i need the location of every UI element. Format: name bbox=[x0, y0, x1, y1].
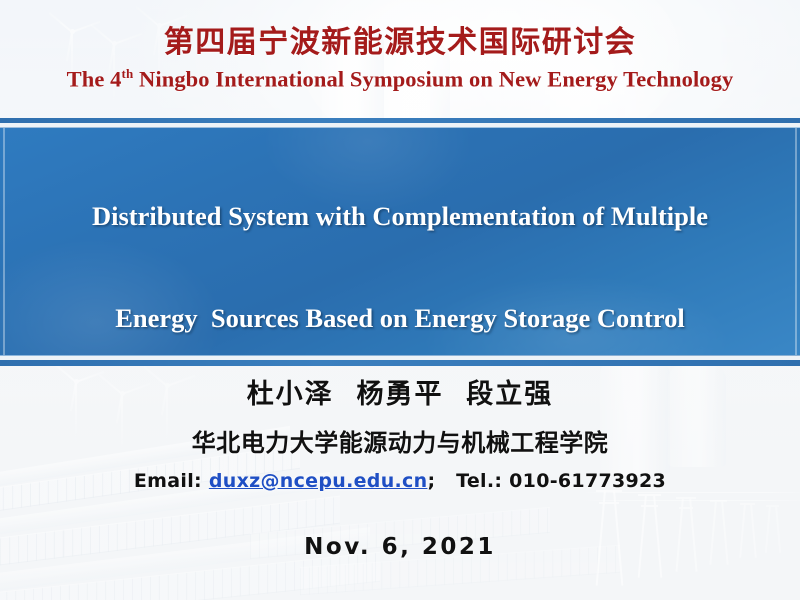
telephone-number: Tel.: 010-61773923 bbox=[456, 470, 666, 492]
panel-inner-border-left bbox=[3, 128, 5, 356]
conference-title-english: The 4th Ningbo International Symposium o… bbox=[67, 66, 734, 93]
author-names: 杜小泽 杨勇平 段立强 bbox=[247, 372, 554, 411]
contact-line: Email: duxz@ncepu.edu.cn; Tel.: 010-6177… bbox=[134, 470, 666, 492]
conference-header: 第四届宁波新能源技术国际研讨会 The 4th Ningbo Internati… bbox=[0, 0, 800, 118]
presentation-title-english-line1: Distributed System with Complementation … bbox=[92, 200, 708, 234]
affiliation: 华北电力大学能源动力与机械工程学院 bbox=[192, 423, 609, 458]
presentation-title-english: Distributed System with Complementation … bbox=[92, 132, 708, 356]
ordinal-superscript: th bbox=[122, 66, 134, 81]
title-panel: 基于储能调控的多能互补分布式能源系统 Distributed System wi… bbox=[0, 127, 800, 356]
email-link[interactable]: duxz@ncepu.edu.cn bbox=[209, 470, 428, 492]
conference-title-english-rest: Ningbo International Symposium on New En… bbox=[133, 67, 733, 92]
presentation-date: Nov. 6, 2021 bbox=[304, 534, 496, 560]
conference-title-chinese: 第四届宁波新能源技术国际研讨会 bbox=[164, 25, 637, 61]
conference-title-english-prefix: The 4 bbox=[67, 67, 122, 92]
contact-separator: ; bbox=[427, 470, 456, 492]
author-info-block: 杜小泽 杨勇平 段立强 华北电力大学能源动力与机械工程学院 Email: dux… bbox=[0, 372, 800, 560]
email-label: Email: bbox=[134, 470, 209, 492]
presentation-title-english-line2: Energy Sources Based on Energy Storage C… bbox=[92, 302, 708, 336]
panel-inner-border-right bbox=[795, 128, 797, 356]
presentation-slide: 第四届宁波新能源技术国际研讨会 The 4th Ningbo Internati… bbox=[0, 0, 800, 600]
divider-bar-bottom bbox=[0, 360, 800, 366]
